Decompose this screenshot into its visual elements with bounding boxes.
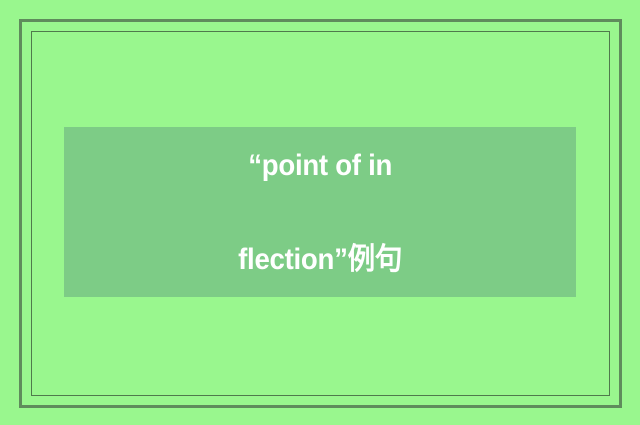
title-line-2: flection”例句 xyxy=(238,236,402,283)
page-canvas: “point of in flection”例句 xyxy=(0,0,640,425)
title-card-panel: “point of in flection”例句 xyxy=(64,127,576,297)
title-card-text: “point of in flection”例句 xyxy=(238,95,402,330)
title-line-1: “point of in xyxy=(238,142,402,189)
